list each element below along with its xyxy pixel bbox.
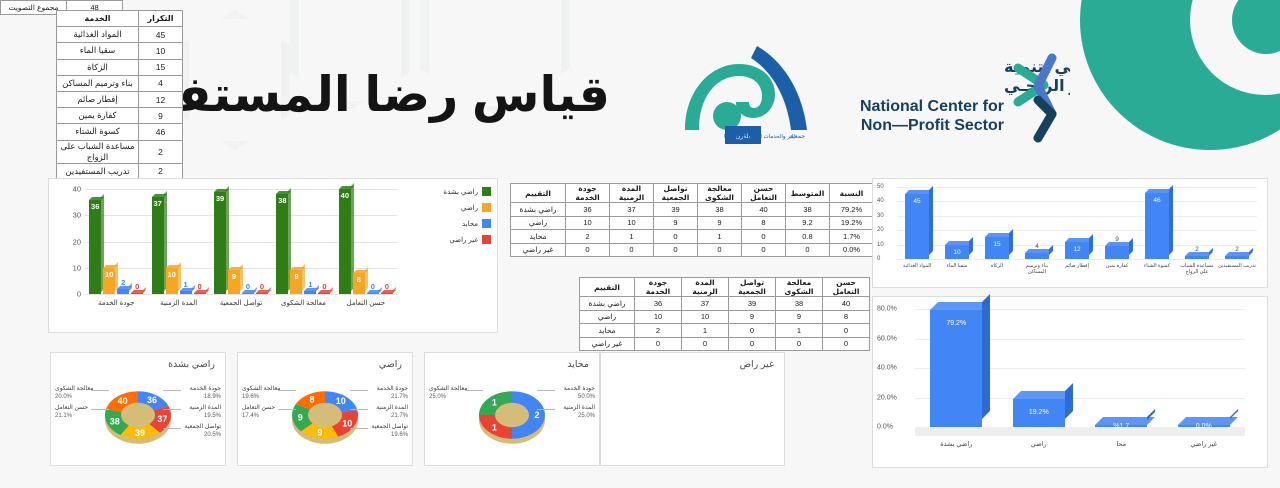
- column-header: التقييم: [580, 278, 635, 297]
- column-header: تواصل الجمعية: [729, 278, 776, 297]
- table-row: 10سقيا الماء: [57, 43, 183, 59]
- column-header: تواصل الجمعية: [654, 184, 698, 203]
- bar-group: 361020: [85, 189, 147, 294]
- table-row: 2تدريب المستفيدين: [57, 163, 183, 179]
- column-header: المدة الزمنية: [682, 278, 729, 297]
- bar-column: 12: [1057, 242, 1097, 259]
- table-cell: 19.2%: [830, 216, 874, 230]
- bar-راضي: 8: [353, 273, 365, 294]
- table-row: 45المواد الغذائية: [57, 27, 183, 43]
- donut-callout: جودة الخدمة21.7%: [377, 385, 408, 401]
- cell-service: إفطار صائم: [57, 91, 139, 107]
- donut-panel-satisfied: راضي1010998جودة الخدمة21.7%المدة الزمنية…: [237, 352, 413, 466]
- services-table-body: 45المواد الغذائية10سقيا الماء15الزكاة4بن…: [57, 27, 183, 180]
- donut-callout-percent: 21.7%: [391, 394, 408, 400]
- table-cell: 0: [742, 230, 786, 244]
- x-axis-label: تواصل الجمعية: [210, 299, 272, 307]
- cell-count: 4: [139, 75, 183, 91]
- table-cell: غير راضي: [580, 337, 635, 351]
- table-cell: 0: [823, 337, 870, 351]
- donut-callout-label: حسن التعامل: [242, 404, 275, 412]
- table-cell: محايد: [580, 324, 635, 338]
- donut-panel-neutral: محايد211جودة الخدمة50.0%المدة الزمنية25.…: [424, 352, 600, 466]
- y-axis-tick: 0: [877, 256, 880, 262]
- table-cell: 37: [610, 203, 654, 217]
- table-cell: 36: [566, 203, 610, 217]
- donut-leader-line: [91, 390, 109, 391]
- table-row: 4بناء وترميم المساكن: [57, 75, 183, 91]
- column-header-count: التكرار: [139, 11, 183, 27]
- bar-column: 10: [937, 245, 977, 259]
- bar-side-face: [240, 264, 243, 291]
- bar-راضي بشدة: 37: [152, 197, 164, 294]
- donut-callout-label: معالجة الشكوى: [55, 385, 93, 393]
- table-cell: 0: [776, 337, 823, 351]
- donut-callout: جودة الخدمة50.0%: [564, 385, 595, 401]
- bar-value-label: 4: [1035, 243, 1039, 250]
- bar-value-label: 0: [371, 282, 375, 291]
- table-cell: 0: [635, 337, 682, 351]
- y-axis-tick: 40.0%: [877, 365, 897, 372]
- table-cell: 1: [698, 230, 742, 244]
- evaluation-chart-legend: راضي بشدةراضيمحايدغير راضي: [429, 187, 491, 251]
- donut-slice-value: 37: [157, 414, 167, 424]
- bar-value-label: 0: [385, 282, 389, 291]
- table-cell: راضي بشدة: [580, 297, 635, 311]
- bar-column: 0.0%: [1163, 425, 1246, 427]
- bar-side-face: [1129, 238, 1133, 255]
- donut-leader-line: [350, 428, 368, 429]
- bar-side-face: [129, 283, 132, 291]
- bar-side-face: [929, 186, 933, 255]
- y-axis-tick: 0.0%: [877, 424, 893, 431]
- donut-callout: معالجة الشكوى19.6%: [242, 385, 280, 401]
- donut-leader-line: [278, 409, 296, 410]
- donut-slice-value: 40: [118, 396, 128, 406]
- bar-value-label: 9: [294, 272, 298, 281]
- donut-callout-label: جودة الخدمة: [190, 385, 221, 393]
- table-cell: راضي: [511, 216, 566, 230]
- bar-column: 9: [1097, 246, 1137, 259]
- table-cell: 9: [698, 216, 742, 230]
- table-row: 01012محايد: [580, 324, 870, 338]
- donut-callout: معالجة الشكوى20.0%: [55, 385, 93, 401]
- bar-value-label: 0: [135, 282, 139, 291]
- bar-value-label: 10: [167, 270, 175, 279]
- table-cell: 0: [654, 243, 698, 257]
- x-axis-label: تدريب المستفيدين: [1217, 263, 1257, 276]
- column-header: المدة الزمنية: [610, 184, 654, 203]
- bar: 12: [1065, 242, 1089, 259]
- bar-group: 40800: [335, 189, 397, 294]
- table-cell: 40: [742, 203, 786, 217]
- table-cell: 0.8: [786, 230, 830, 244]
- bar-محايد: 0: [242, 293, 254, 295]
- x-axis-label: إفطار صائم: [1057, 263, 1097, 276]
- table-cell: 0: [729, 337, 776, 351]
- ncnp-logo: المركز الوطني لتنمية القطاع غـير الربحـي…: [838, 52, 1070, 144]
- bar-side-face: [178, 262, 181, 291]
- y-axis-tick: 80.0%: [877, 306, 897, 313]
- donut-leader-line: [465, 390, 483, 391]
- donut-callout: معالجة الشكوى25.0%: [429, 385, 467, 401]
- donut-callout-label: جودة الخدمة: [564, 385, 595, 393]
- table-cell: 10: [682, 310, 729, 324]
- donut-callout-label: المدة الزمنية: [189, 404, 221, 412]
- dashboard-root: بلقرن جمعية البر والخدمات الاجتماعية بال…: [0, 0, 1280, 488]
- donut-callout-percent: 25.0%: [429, 394, 446, 400]
- table-cell: 10: [635, 310, 682, 324]
- table-cell: 9: [776, 310, 823, 324]
- bar-value-label: 15: [993, 241, 1000, 248]
- donut-panel-very-satisfied: راضي بشدة3637393840جودة الخدمة18.9%المدة…: [50, 352, 226, 466]
- x-axis-label: مساعدة الشباب على الزواج: [1177, 263, 1217, 276]
- bar: 46: [1145, 193, 1169, 259]
- legend-label: راضي: [461, 204, 478, 212]
- donut-leader-line: [537, 390, 555, 391]
- cell-service: الزكاة: [57, 59, 139, 75]
- donut-callout-label: تواصل الجمعية: [184, 423, 221, 431]
- teal-arc-decoration: [1050, 0, 1280, 180]
- bar: 45: [905, 194, 929, 259]
- association-logo-caption-left: البر والخدمات الاجتماعية بالشفا: [724, 134, 796, 140]
- donut-callout: المدة الزمنية19.5%: [189, 404, 221, 420]
- legend-swatch: [482, 187, 491, 196]
- table-cell: 10: [566, 216, 610, 230]
- bar-value-label: 0: [246, 282, 250, 291]
- donut-title: راضي بشدة: [168, 359, 215, 370]
- table-row: 9كفارة يمين: [57, 108, 183, 124]
- table-row: 12إفطار صائم: [57, 91, 183, 107]
- x-axis-label: غير راضي: [1163, 440, 1246, 448]
- services-bar-chart: 01020304050 45101541294622 المواد الغذائ…: [872, 178, 1268, 288]
- bar-value-label: 38: [278, 196, 286, 205]
- bar-column: 46: [1137, 193, 1177, 259]
- bar-side-face: [192, 285, 195, 291]
- table-cell: 1: [682, 324, 729, 338]
- bar-column: 2: [1217, 256, 1257, 259]
- x-axis-label: كفارة يمين: [1097, 263, 1137, 276]
- bar-column: 45: [897, 194, 937, 259]
- y-axis-tick: 20: [73, 237, 81, 246]
- table-cell: 39: [654, 203, 698, 217]
- bar-column: 19.2%: [998, 399, 1081, 427]
- x-axis-label: الزكاة: [977, 263, 1017, 276]
- bar-راضي: 10: [103, 268, 115, 294]
- y-axis-tick: 40: [73, 185, 81, 194]
- bar-راضي: 9: [228, 270, 240, 294]
- bar-راضي بشدة: 36: [89, 200, 101, 295]
- association-logo-mark: بلقرن جمعية البر والخدمات الاجتماعية بال…: [665, 38, 825, 148]
- x-axis-label: كسوة الشتاء: [1137, 263, 1177, 276]
- cell-service: مساعدة الشباب على الزواج: [57, 140, 139, 163]
- bar: 4: [1025, 253, 1049, 259]
- donut-slice-value: 9: [317, 428, 322, 438]
- bar-غير راضي: 0: [131, 293, 143, 295]
- evaluation-chart-y-axis: 010203040: [59, 185, 83, 297]
- table-cell: 2: [566, 230, 610, 244]
- donut-callout-label: جودة الخدمة: [377, 385, 408, 393]
- bar-راضي بشدة: 39: [214, 192, 226, 294]
- donut-callout: المدة الزمنية25.0%: [563, 404, 595, 420]
- donut-leader-line: [163, 390, 181, 391]
- column-header: المتوسط: [786, 184, 830, 203]
- evaluation-counts-table: حسن التعاملمعالجة الشكوىتواصل الجمعيةالم…: [579, 277, 870, 351]
- bar-value-label: 0: [322, 282, 326, 291]
- table-cell: 0: [566, 243, 610, 257]
- donut-panel-unsatisfied: غير راض: [600, 352, 785, 466]
- bar-group: 371010: [147, 189, 209, 294]
- bar-value-label: 19.2%: [1029, 409, 1049, 416]
- donut-title: راضي: [379, 359, 402, 370]
- x-axis-label: بناء وترميم المساكن: [1017, 263, 1057, 276]
- table-cell: 40: [823, 297, 870, 311]
- table-header-row: التكرار الخدمة: [57, 11, 183, 27]
- table-cell: 38: [698, 203, 742, 217]
- legend-swatch: [482, 203, 491, 212]
- x-axis-label: معالجة الشكوى: [272, 299, 334, 307]
- ncnp-logo-svg: المركز الوطني لتنمية القطاع غـير الربحـي…: [838, 52, 1070, 144]
- bar-side-face: [302, 264, 305, 291]
- bar-غير راضي: 0: [381, 293, 393, 295]
- legend-item: غير راضي: [429, 235, 491, 244]
- donut-callout-label: معالجة الشكوى: [429, 385, 467, 393]
- bar-value-label: 12: [1073, 246, 1080, 253]
- donut-slice-value: 10: [342, 418, 352, 428]
- legend-item: راضي بشدة: [429, 187, 491, 196]
- table-row: 0.0%000000غير راضي: [511, 243, 874, 257]
- bar-side-face: [1009, 229, 1013, 255]
- donut-callout-percent: 19.6%: [242, 394, 259, 400]
- services-chart-bars: 45101541294622: [897, 187, 1257, 259]
- cell-service: تدريب المستفيدين: [57, 163, 139, 179]
- bar-راضي بشدة: 38: [276, 194, 288, 294]
- bar-column: %1.7: [1080, 425, 1163, 428]
- table-cell: 0: [610, 243, 654, 257]
- table-row: 4038393736راضي بشدة: [580, 297, 870, 311]
- donut-slice-value: 39: [135, 428, 145, 438]
- donut-callout-percent: 17.4%: [242, 413, 259, 419]
- bar-side-face: [1169, 185, 1173, 255]
- x-axis-label: سقيا الماء: [937, 263, 977, 276]
- donut-callout-label: تواصل الجمعية: [371, 423, 408, 431]
- table-cell: 37: [682, 297, 729, 311]
- bar-value-label: 0: [198, 282, 202, 291]
- bar-value-label: 9: [1115, 236, 1119, 243]
- bar-column: 79.2%: [915, 310, 998, 427]
- donut-callout-percent: 19.5%: [204, 413, 221, 419]
- bar: 19.2%: [1013, 399, 1065, 427]
- bar: 10: [945, 245, 969, 259]
- donut-leader-line: [278, 390, 296, 391]
- bar-value-label: 1: [184, 280, 188, 289]
- percent-chart-bars: 79.2%19.2%%1.70.0%: [915, 309, 1245, 427]
- table-cell: 36: [635, 297, 682, 311]
- cell-service: بناء وترميم المساكن: [57, 75, 139, 91]
- bar-غير راضي: 0: [256, 293, 268, 295]
- legend-item: محايد: [429, 219, 491, 228]
- bar-column: 2: [1177, 256, 1217, 259]
- table-cell: 9.2: [786, 216, 830, 230]
- donut-callout-percent: 21.1%: [55, 413, 72, 419]
- bar-value-label: 2: [1235, 246, 1239, 253]
- bar-غير راضي: 0: [318, 293, 330, 295]
- table-cell: 1: [776, 324, 823, 338]
- x-axis-label: جودة الخدمة: [85, 299, 147, 307]
- bar-group: 39900: [210, 189, 272, 294]
- bar-value-label: 1: [308, 280, 312, 289]
- cell-count: 46: [139, 124, 183, 140]
- donut-slice-value: 38: [110, 417, 120, 427]
- table-cell: 0: [682, 337, 729, 351]
- bar-راضي: 10: [166, 268, 178, 294]
- donut-leader-line: [163, 409, 181, 410]
- bar: 0.0%: [1178, 425, 1230, 427]
- y-axis-tick: 10: [73, 263, 81, 272]
- donut-callout: جودة الخدمة18.9%: [190, 385, 221, 401]
- x-axis-label: المواد الغذائية: [897, 263, 937, 276]
- bar-side-face: [969, 237, 973, 255]
- grid-line: [897, 259, 1257, 260]
- donut-callout-percent: 25.0%: [578, 413, 595, 419]
- donut-slice-value: 1: [492, 397, 497, 407]
- bar-محايد: 0: [367, 293, 379, 295]
- percent-chart-x-labels: راضي بشدةراضيمحاغير راضي: [915, 440, 1245, 448]
- donut-leader-line: [350, 409, 368, 410]
- cell-count: 2: [139, 163, 183, 179]
- table-cell: 38: [786, 203, 830, 217]
- y-axis-tick: 20: [877, 227, 884, 233]
- bar-value-label: 10: [953, 249, 960, 256]
- bar-side-face: [1049, 245, 1053, 255]
- bar-value-label: 2: [1195, 246, 1199, 253]
- y-axis-tick: 0: [77, 290, 81, 299]
- donut-callout: المدة الزمنية21.7%: [376, 404, 408, 420]
- donut-callout-percent: 20.5%: [204, 432, 221, 438]
- x-axis-label: راضي بشدة: [915, 440, 998, 448]
- table-header-row: حسن التعاملمعالجة الشكوىتواصل الجمعيةالم…: [580, 278, 870, 297]
- column-header: حسن التعامل: [742, 184, 786, 203]
- bar-value-label: 0.0%: [1196, 423, 1212, 430]
- x-axis-label: المدة الزمنية: [147, 299, 209, 307]
- ncnp-name-en-line2: Non—Profit Sector: [861, 117, 1004, 134]
- bar: 15: [985, 237, 1009, 259]
- y-axis-tick: 50: [877, 184, 884, 190]
- donut-callout-percent: 50.0%: [578, 394, 595, 400]
- column-header: جودة الخدمة: [635, 278, 682, 297]
- column-header: معالجة الشكوى: [698, 184, 742, 203]
- bar-top-face: [1013, 391, 1073, 399]
- bar: 2: [1185, 256, 1209, 259]
- donut-callout: تواصل الجمعية19.6%: [371, 423, 408, 439]
- page-title: قياس رضا المستفيدين: [210, 55, 610, 135]
- table-cell: 2: [635, 324, 682, 338]
- table-cell: 0: [786, 243, 830, 257]
- cell-count: 2: [139, 140, 183, 163]
- table-cell: 8: [823, 310, 870, 324]
- table-cell: 1.7%: [830, 230, 874, 244]
- column-header: جودة الخدمة: [566, 184, 610, 203]
- x-axis-label: حسن التعامل: [335, 299, 397, 307]
- donut-callout: حسن التعامل17.4%: [242, 404, 275, 420]
- bar-column: 15: [977, 237, 1017, 259]
- y-axis-tick: 20.0%: [877, 394, 897, 401]
- x-axis-label: راضي: [998, 440, 1081, 448]
- table-cell: راضي بشدة: [511, 203, 566, 217]
- grid-line: [85, 294, 397, 295]
- table-cell: 0.0%: [830, 243, 874, 257]
- donut-leader-line: [91, 409, 109, 410]
- table-row: 46كسوة الشتاء: [57, 124, 183, 140]
- donut-slice-value: 36: [147, 395, 157, 405]
- cell-count: 15: [139, 59, 183, 75]
- donut-slice-value: 8: [310, 395, 315, 405]
- bar-value-label: 36: [91, 202, 99, 211]
- legend-swatch: [482, 219, 491, 228]
- cell-service: سقيا الماء: [57, 43, 139, 59]
- donut-callout: تواصل الجمعية20.5%: [184, 423, 221, 439]
- column-header: حسن التعامل: [823, 278, 870, 297]
- donut-callout-label: حسن التعامل: [55, 404, 88, 412]
- bar-side-face: [1065, 383, 1073, 419]
- table-row: 15الزكاة: [57, 59, 183, 75]
- evaluation-chart-bars: 361020371010399003891040800: [85, 189, 397, 294]
- bar-side-face: [1089, 234, 1093, 255]
- table-header-row: النسبةالمتوسطحسن التعاملمعالجة الشكوىتوا…: [511, 184, 874, 203]
- table-row: 1.7%0.801012محايد: [511, 230, 874, 244]
- legend-item: راضي: [429, 203, 491, 212]
- cell-service: كفارة يمين: [57, 108, 139, 124]
- table-row: 79.2%384038393736راضي بشدة: [511, 203, 874, 217]
- donut-callout-percent: 21.7%: [391, 413, 408, 419]
- donut-slice-value: 2: [534, 410, 539, 420]
- table-cell: 0: [823, 324, 870, 338]
- table-cell: 38: [776, 297, 823, 311]
- ncnp-name-en-line1: National Center for: [860, 98, 1004, 115]
- bar-value-label: 39: [216, 194, 224, 203]
- bar: 79.2%: [930, 310, 982, 427]
- bar-محايد: 2: [117, 289, 129, 294]
- y-axis-tick: 40: [877, 198, 884, 204]
- table-cell: 1: [610, 230, 654, 244]
- satisfaction-percent-chart: 0.0%20.0%40.0%60.0%80.0% 79.2%19.2%%1.70…: [872, 296, 1268, 468]
- cell-service: المواد الغذائية: [57, 27, 139, 43]
- bar-محايد: 1: [304, 291, 316, 294]
- bar-value-label: 10: [105, 270, 113, 279]
- donut-callout-label: المدة الزمنية: [376, 404, 408, 412]
- bar-value-label: %1.7: [1113, 423, 1129, 430]
- donut-callout-label: المدة الزمنية: [563, 404, 595, 412]
- bar-side-face: [365, 267, 368, 291]
- evaluation-bar-chart: 010203040 361020371010399003891040800 جو…: [48, 178, 498, 333]
- y-axis-tick: 60.0%: [877, 335, 897, 342]
- y-axis-tick: 30: [73, 211, 81, 220]
- column-header: النسبة: [830, 184, 874, 203]
- cell-count: 12: [139, 91, 183, 107]
- bar-راضي: 9: [290, 270, 302, 294]
- donut-callout-percent: 18.9%: [204, 394, 221, 400]
- donut-callout: حسن التعامل21.1%: [55, 404, 88, 420]
- donut-slice-value: 9: [298, 412, 303, 422]
- table-cell: 0: [654, 230, 698, 244]
- table-cell: محايد: [511, 230, 566, 244]
- bar-value-label: 9: [232, 272, 236, 281]
- table-cell: 39: [729, 297, 776, 311]
- table-cell: 0: [729, 324, 776, 338]
- bar: 2: [1225, 256, 1249, 259]
- bar-value-label: 8: [357, 275, 361, 284]
- services-chart-x-labels: المواد الغذائيةسقيا الماءالزكاةبناء وترم…: [897, 263, 1257, 276]
